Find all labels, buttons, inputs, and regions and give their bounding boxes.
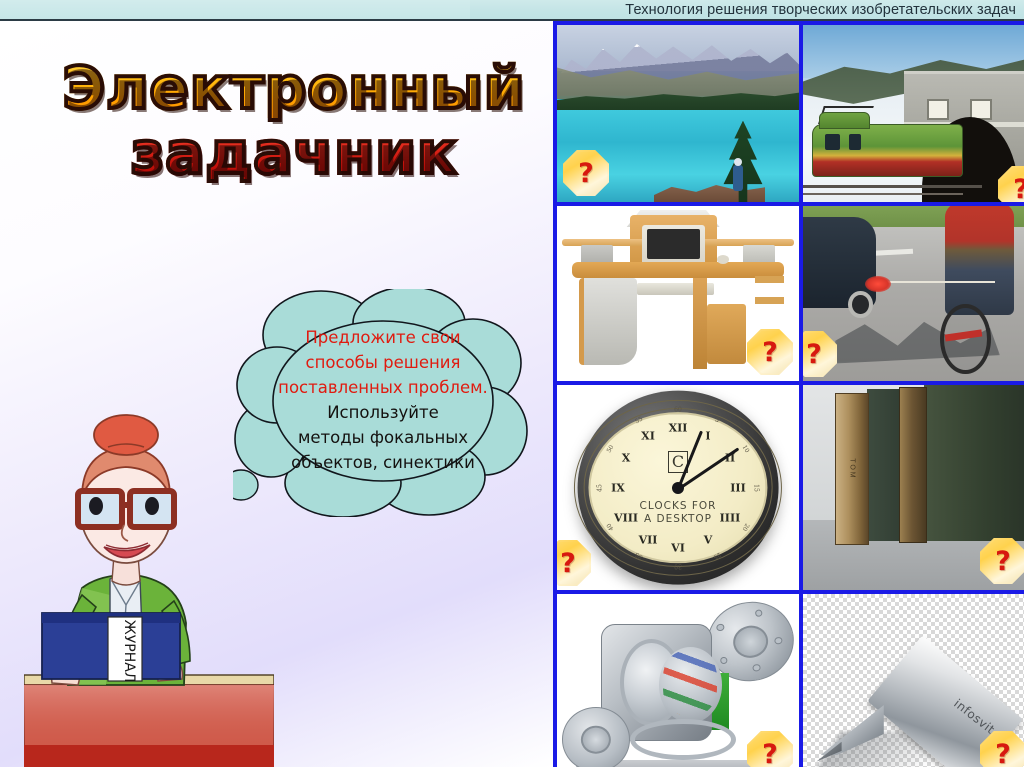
clock-minute-tick: 60: [674, 406, 682, 413]
clock-minute-tick: 30: [674, 562, 682, 569]
clock-brand-line2: A DESKTOP: [640, 513, 717, 526]
train-tunnel-photo: [803, 25, 1024, 202]
question-mark-glyph: ?: [560, 550, 576, 577]
clock-brand-line1: CLOCKS FOR: [640, 500, 717, 513]
question-badge-icon[interactable]: ?: [747, 329, 793, 375]
title-line-1: Электронный: [44, 59, 544, 118]
wall-clock-photo: XIIIIIIIIIIIIVVIVIIVIIIIXXXI 60510152025…: [557, 385, 799, 590]
clock-numeral: X: [622, 451, 631, 464]
podium-shape: [24, 675, 274, 767]
header-band: Технология решения творческих изобретате…: [0, 0, 1024, 21]
bubble-line-5: методы фокальных: [263, 425, 503, 450]
speech-bubble: Предложите свои способы решения поставле…: [233, 289, 528, 517]
wordart-title: Электронный задачник: [44, 59, 544, 183]
clock-numeral: XI: [641, 429, 655, 442]
page-title: Технология решения творческих изобретате…: [625, 1, 1016, 19]
clock-numeral: IX: [611, 481, 625, 494]
question-mark-glyph: ?: [995, 741, 1011, 767]
grid-cell-cyclist-car[interactable]: ?: [803, 206, 1024, 381]
clock-numeral: III: [730, 481, 745, 494]
question-mark-glyph: ?: [995, 548, 1011, 575]
grid-cell-machinery[interactable]: ?: [557, 594, 799, 767]
clock-numeral: VIII: [614, 511, 638, 524]
clock-numeral: VII: [639, 533, 658, 546]
clock-numeral: VI: [671, 541, 685, 554]
question-mark-glyph: ?: [806, 341, 822, 368]
question-mark-glyph: ?: [1013, 176, 1024, 203]
grid-cell-mountain-lake[interactable]: ?: [557, 25, 799, 202]
question-badge-icon[interactable]: ?: [563, 150, 609, 196]
clock-minute-tick: 45: [597, 484, 604, 492]
bubble-line-3: поставленных проблем.: [263, 375, 503, 400]
grid-cell-old-books[interactable]: ТОМ ?: [803, 385, 1024, 590]
clock-brand-text: CLOCKS FOR A DESKTOP: [640, 500, 717, 526]
grid-cell-pencil[interactable]: infosvit ?: [803, 594, 1024, 767]
clock-minute-tick: 15: [753, 484, 760, 492]
bubble-line-6: объектов, синектики: [263, 450, 503, 475]
header-left-fill: [0, 0, 470, 19]
bubble-line-4: Используйте: [263, 400, 503, 425]
clock-center-hub: [672, 482, 684, 494]
problem-image-grid: ? ? ?: [553, 21, 1024, 767]
grid-cell-clock[interactable]: XIIIIIIIIIIIIVVIVIIVIIIIXXXI 60510152025…: [557, 385, 799, 590]
title-line-2: задачник: [44, 124, 544, 183]
question-mark-glyph: ?: [762, 741, 778, 767]
journal-label: ЖУРНАЛ: [121, 620, 137, 683]
question-mark-glyph: ?: [578, 160, 594, 187]
clock-numeral: XII: [669, 421, 688, 434]
book-spine-text: ТОМ: [849, 458, 856, 479]
clock-numeral: I: [705, 429, 710, 442]
grid-cell-computer-desk[interactable]: ?: [557, 206, 799, 381]
bubble-line-2: способы решения: [263, 350, 503, 375]
clock-numeral: V: [704, 533, 713, 546]
question-mark-glyph: ?: [762, 339, 778, 366]
grid-cell-train-tunnel[interactable]: ?: [803, 25, 1024, 202]
clock-numeral: IIII: [720, 511, 741, 524]
bubble-line-1: Предложите свои: [263, 325, 503, 350]
speech-bubble-text: Предложите свои способы решения поставле…: [263, 325, 503, 475]
pencil-brand-text: infosvit: [951, 697, 997, 738]
teacher-illustration: ЖУРНАЛ: [24, 373, 274, 767]
left-content-panel: Электронный задачник Предложите свои: [0, 21, 553, 767]
